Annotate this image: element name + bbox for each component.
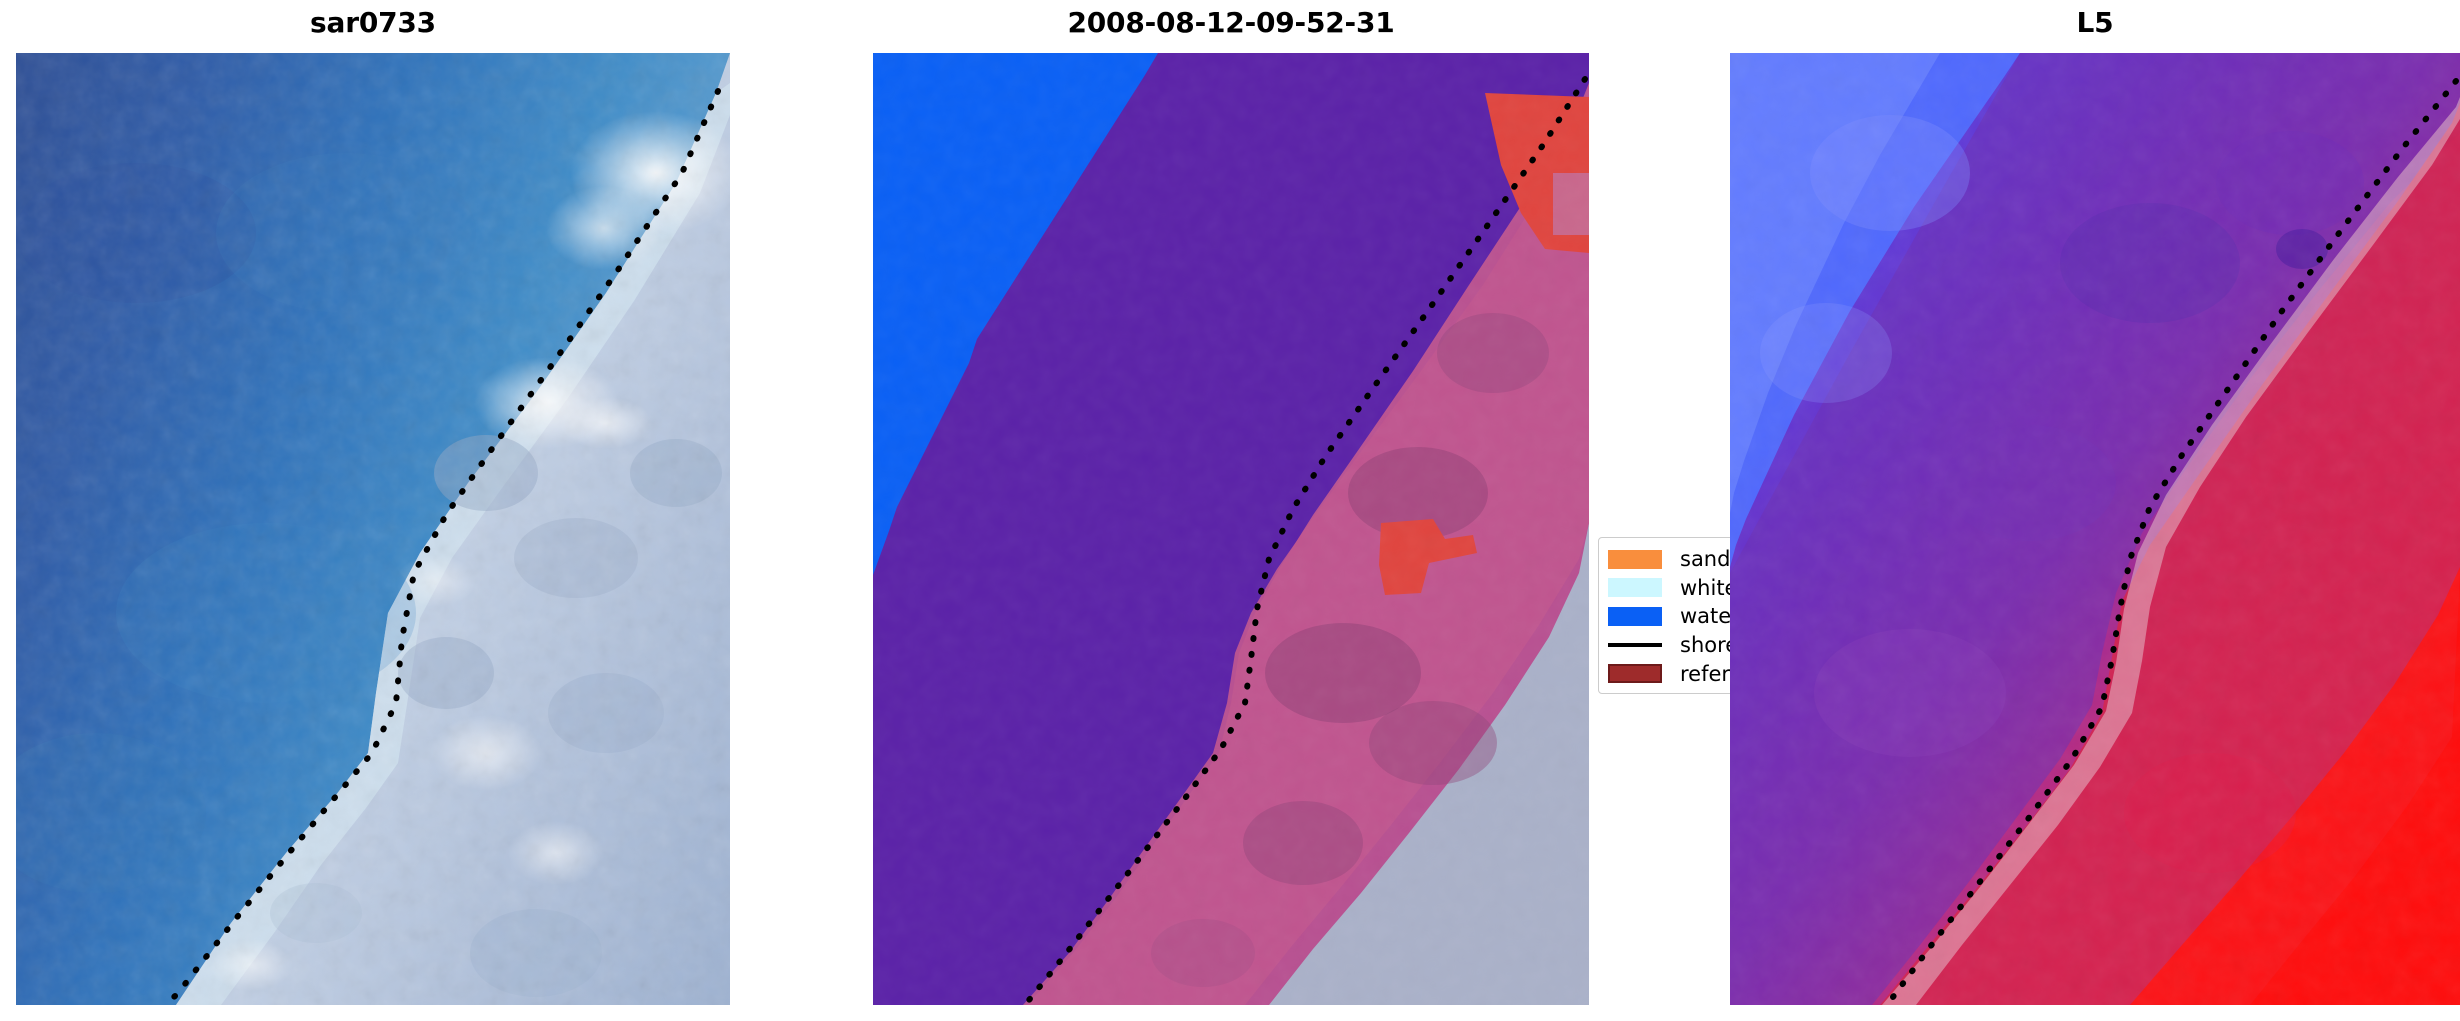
l5-panel[interactable] [1730, 53, 2460, 1005]
panel-title-sar: sar0733 [16, 6, 730, 39]
legend-label-sand: sand [1680, 547, 1730, 571]
sar-raster-image [16, 53, 730, 1005]
sar-panel[interactable] [16, 53, 730, 1005]
classification-raster-image [873, 53, 1589, 1005]
classification-panel[interactable] [873, 53, 1589, 1005]
whitewater-swatch-icon [1608, 578, 1662, 597]
l5-raster-image [1730, 53, 2460, 1005]
figure-canvas: sar0733 2008-08-12-09-52-31 L5 [0, 0, 2460, 1021]
shoreline-line-icon [1608, 636, 1662, 655]
panel-title-classification: 2008-08-12-09-52-31 [873, 6, 1589, 39]
water-swatch-icon [1608, 607, 1662, 626]
panel-title-l5: L5 [1730, 6, 2460, 39]
sand-swatch-icon [1608, 550, 1662, 569]
reference-swatch-icon [1608, 664, 1662, 683]
